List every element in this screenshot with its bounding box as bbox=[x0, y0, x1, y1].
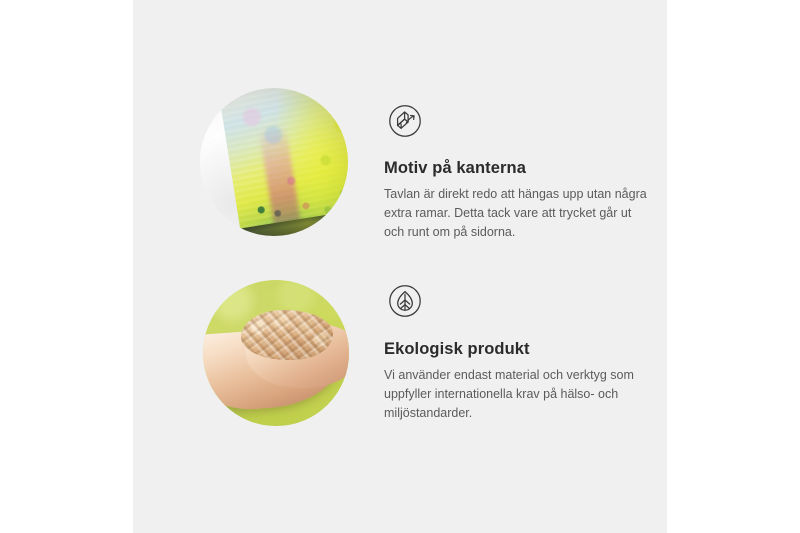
eco-scene bbox=[203, 280, 349, 426]
leaf-icon bbox=[384, 280, 426, 322]
canvas-wrap-icon bbox=[384, 100, 426, 142]
canvas-printed-face bbox=[217, 88, 348, 231]
wood-chips-pile bbox=[241, 310, 333, 360]
feature-row-ekologisk-produkt: Ekologisk produkt Vi använder endast mat… bbox=[133, 268, 667, 438]
feature-title: Ekologisk produkt bbox=[384, 340, 659, 360]
feature-description: Vi använder endast material och verktyg … bbox=[384, 366, 652, 423]
feature-description: Tavlan är direkt redo att hängas upp uta… bbox=[384, 185, 652, 242]
feature-row-motiv-pa-kanterna: Motiv på kanterna Tavlan är direkt redo … bbox=[133, 78, 667, 253]
content-panel: Motiv på kanterna Tavlan är direkt redo … bbox=[133, 0, 667, 533]
canvas-corner-photo bbox=[200, 88, 348, 236]
canvas-scene bbox=[200, 88, 348, 236]
feature-content-ekologisk: Ekologisk produkt Vi använder endast mat… bbox=[384, 280, 659, 423]
product-feature-graphic: Motiv på kanterna Tavlan är direkt redo … bbox=[0, 0, 800, 533]
feature-content-motiv: Motiv på kanterna Tavlan är direkt redo … bbox=[384, 100, 659, 242]
feature-title: Motiv på kanterna bbox=[384, 159, 659, 179]
wood-chips-in-hands-photo bbox=[203, 280, 349, 426]
canvas-block bbox=[217, 88, 348, 231]
